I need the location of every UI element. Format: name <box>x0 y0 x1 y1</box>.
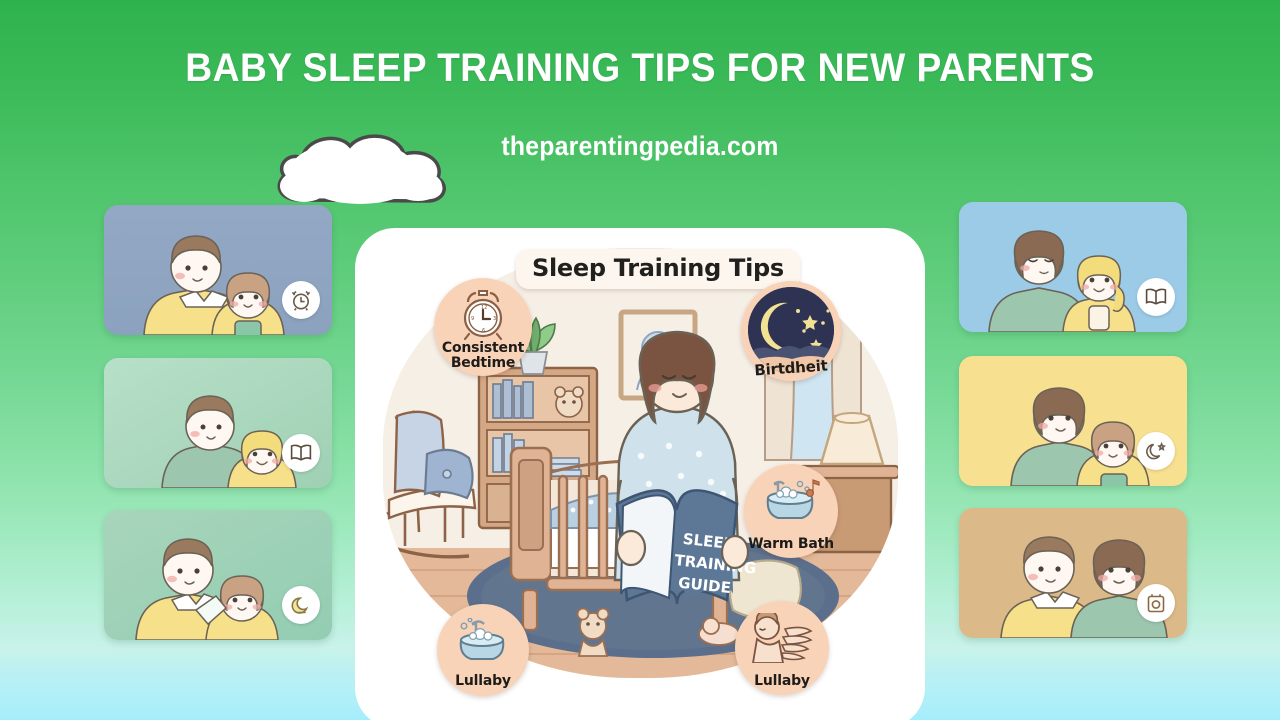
page-title: BABY SLEEP TRAINING TIPS FOR NEW PARENTS <box>45 46 1235 91</box>
right-card-2[interactable] <box>959 356 1187 486</box>
bubble-consistent-bedtime[interactable]: 12369 Consistent Bedtime <box>434 278 532 376</box>
bubble-label: Lullaby <box>437 674 529 688</box>
baby-soothing-hand-icon <box>749 613 815 663</box>
bubble-label: Lullaby <box>735 674 829 688</box>
center-heading: Sleep Training Tips <box>516 249 800 289</box>
left-card-2[interactable] <box>104 358 332 488</box>
bubble-lullaby-right[interactable]: Lullaby <box>735 601 829 695</box>
bubble-night[interactable]: Birtdheit <box>741 281 841 381</box>
bubble-warm-bath[interactable]: Warm Bath <box>744 464 838 558</box>
bubble-label: Consistent Bedtime <box>434 341 532 370</box>
gift-bag-icon <box>1137 584 1175 622</box>
bathtub-music-icon <box>760 476 822 524</box>
svg-text:6: 6 <box>482 328 485 334</box>
alarm-clock-icon: 12369 <box>455 288 511 340</box>
right-card-1[interactable] <box>959 202 1187 332</box>
crescent-moon-icon <box>282 586 320 624</box>
site-url: theparentingpedia.com <box>51 131 1229 162</box>
alarm-clock-icon <box>282 281 320 319</box>
left-card-1[interactable] <box>104 205 332 335</box>
open-book-icon <box>1137 278 1175 316</box>
cloud-icon <box>268 128 454 212</box>
bathtub-icon <box>454 618 512 664</box>
svg-text:3: 3 <box>493 316 496 322</box>
poster-canvas: BABY SLEEP TRAINING TIPS FOR NEW PARENTS… <box>0 0 1280 720</box>
svg-text:12: 12 <box>481 305 487 311</box>
left-card-3[interactable] <box>104 510 332 640</box>
open-book-icon <box>282 434 320 472</box>
bubble-lullaby-left[interactable]: Lullaby <box>437 604 529 696</box>
bubble-label: Warm Bath <box>744 537 838 551</box>
right-card-3[interactable] <box>959 508 1187 638</box>
moon-star-icon <box>1137 432 1175 470</box>
svg-text:9: 9 <box>471 316 474 322</box>
